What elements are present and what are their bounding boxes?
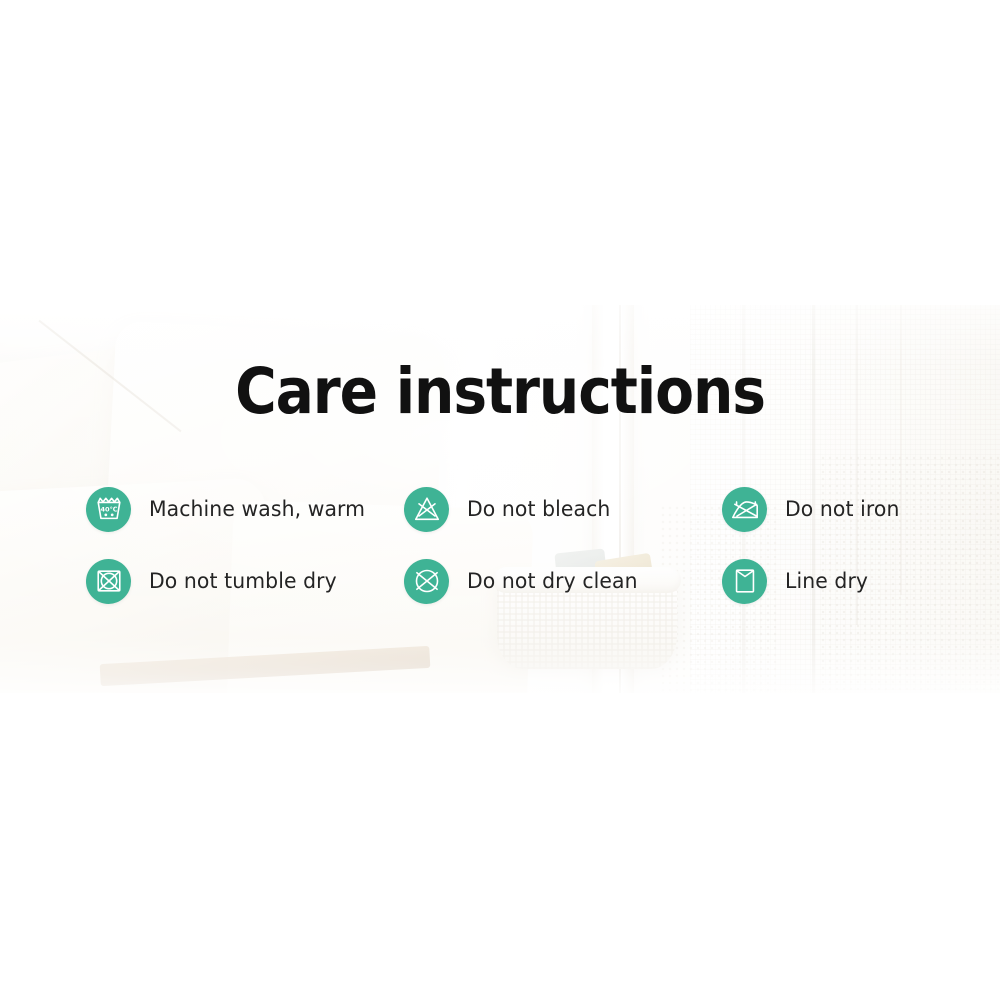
care-item-line-dry[interactable]: Line dry [722,559,871,604]
care-item-label: Do not bleach [467,497,610,521]
care-item-do-not-bleach[interactable]: Do not bleach [404,487,722,532]
do-not-tumble-dry-icon [86,559,131,604]
care-item-do-not-tumble-dry[interactable]: Do not tumble dry [86,559,404,604]
do-not-dry-clean-icon [404,559,449,604]
care-item-do-not-iron[interactable]: Do not iron [722,487,903,532]
line-dry-icon [722,559,767,604]
care-item-label: Machine wash, warm [149,497,365,521]
care-item-do-not-dry-clean[interactable]: Do not dry clean [404,559,722,604]
care-instructions-banner: Care instructions 40℃ Machine wash, w [0,0,1000,1000]
banner-content: Care instructions 40℃ Machine wash, w [0,305,1000,693]
do-not-bleach-icon [404,487,449,532]
do-not-iron-icon [722,487,767,532]
care-icon-grid: 40℃ Machine wash, warm [86,473,926,617]
care-item-label: Do not tumble dry [149,569,337,593]
care-item-machine-wash-warm[interactable]: 40℃ Machine wash, warm [86,487,404,532]
care-row-1: 40℃ Machine wash, warm [86,473,926,545]
care-item-label: Do not iron [785,497,899,521]
page-title: Care instructions [50,360,950,423]
care-item-label: Do not dry clean [467,569,638,593]
care-item-label: Line dry [785,569,868,593]
machine-wash-warm-icon: 40℃ [86,487,131,532]
svg-text:40℃: 40℃ [100,505,117,513]
care-row-2: Do not tumble dry Do not dry clean [86,545,926,617]
